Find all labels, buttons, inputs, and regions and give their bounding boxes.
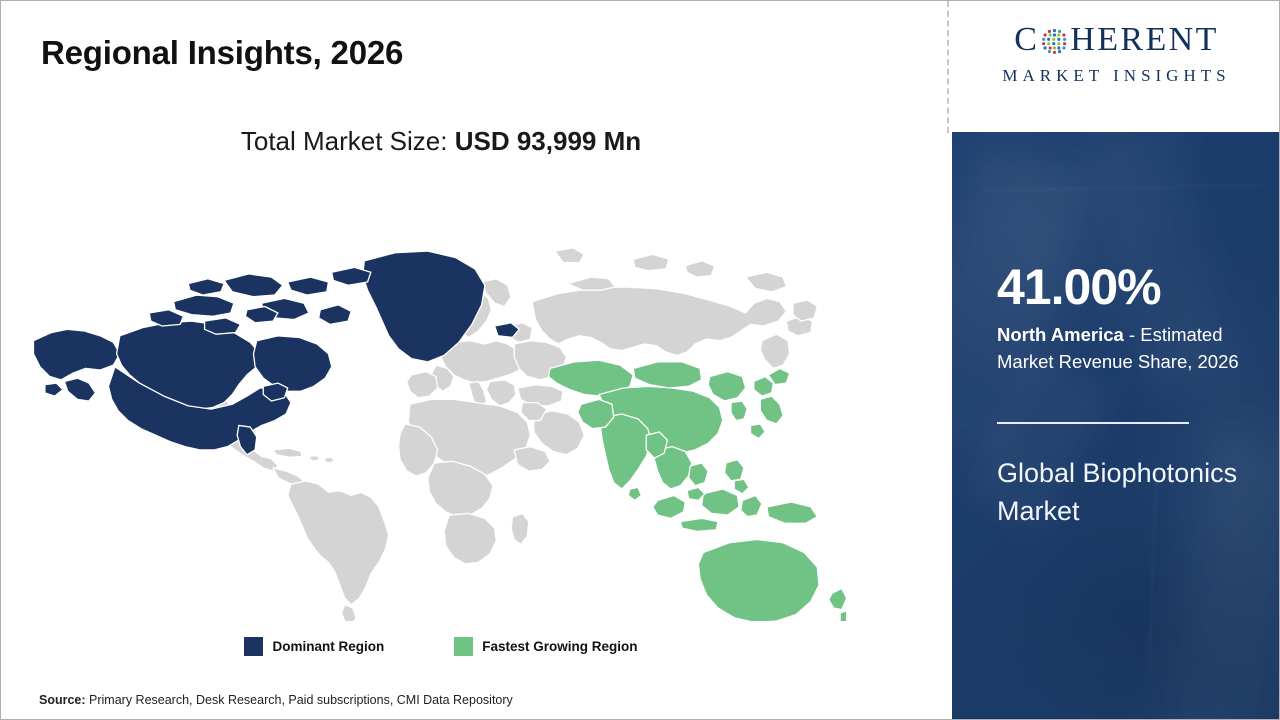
globe-dots-svg bbox=[1040, 27, 1069, 56]
legend-label-fastest: Fastest Growing Region bbox=[482, 639, 637, 654]
world-map[interactable] bbox=[26, 181, 846, 621]
legend-swatch-fastest bbox=[454, 637, 473, 656]
slide-canvas: Regional Insights, 2026 Total Market Siz… bbox=[0, 0, 1280, 720]
source-note: Source: Primary Research, Desk Research,… bbox=[39, 693, 513, 707]
source-text: Primary Research, Desk Research, Paid su… bbox=[86, 693, 513, 707]
logo-letter-c: C bbox=[1014, 23, 1039, 57]
legend-label-dominant: Dominant Region bbox=[272, 639, 384, 654]
source-label: Source: bbox=[39, 693, 86, 707]
share-percentage: 41.00% bbox=[997, 262, 1161, 312]
share-description: North America - Estimated Market Revenue… bbox=[997, 322, 1265, 376]
left-content-panel: Regional Insights, 2026 Total Market Siz… bbox=[1, 1, 947, 720]
page-title: Regional Insights, 2026 bbox=[41, 34, 403, 72]
card-texture-streak bbox=[982, 184, 1262, 192]
vertical-divider bbox=[947, 1, 949, 133]
market-size-value: USD 93,999 Mn bbox=[455, 126, 641, 156]
world-map-svg bbox=[26, 181, 846, 621]
share-region-name: North America bbox=[997, 324, 1124, 345]
logo-subtitle: MARKET INSIGHTS bbox=[964, 66, 1269, 86]
market-size-label: Total Market Size: bbox=[241, 126, 455, 156]
regional-share-card: 41.00% North America - Estimated Market … bbox=[952, 132, 1280, 720]
map-region-asia-pacific bbox=[548, 360, 846, 621]
logo-wordmark-rest: HERENT bbox=[1070, 23, 1219, 57]
logo-wordmark: C bbox=[964, 23, 1269, 57]
brand-logo[interactable]: C bbox=[964, 23, 1269, 86]
map-legend: Dominant Region Fastest Growing Region bbox=[1, 637, 881, 656]
card-divider bbox=[997, 422, 1189, 424]
right-sidebar: C bbox=[952, 1, 1280, 720]
legend-item-fastest: Fastest Growing Region bbox=[454, 637, 637, 656]
globe-dots-icon bbox=[1040, 27, 1069, 56]
market-title: Global Biophotonics Market bbox=[997, 454, 1262, 531]
legend-swatch-dominant bbox=[244, 637, 263, 656]
legend-item-dominant: Dominant Region bbox=[244, 637, 384, 656]
total-market-size: Total Market Size: USD 93,999 Mn bbox=[1, 126, 881, 157]
